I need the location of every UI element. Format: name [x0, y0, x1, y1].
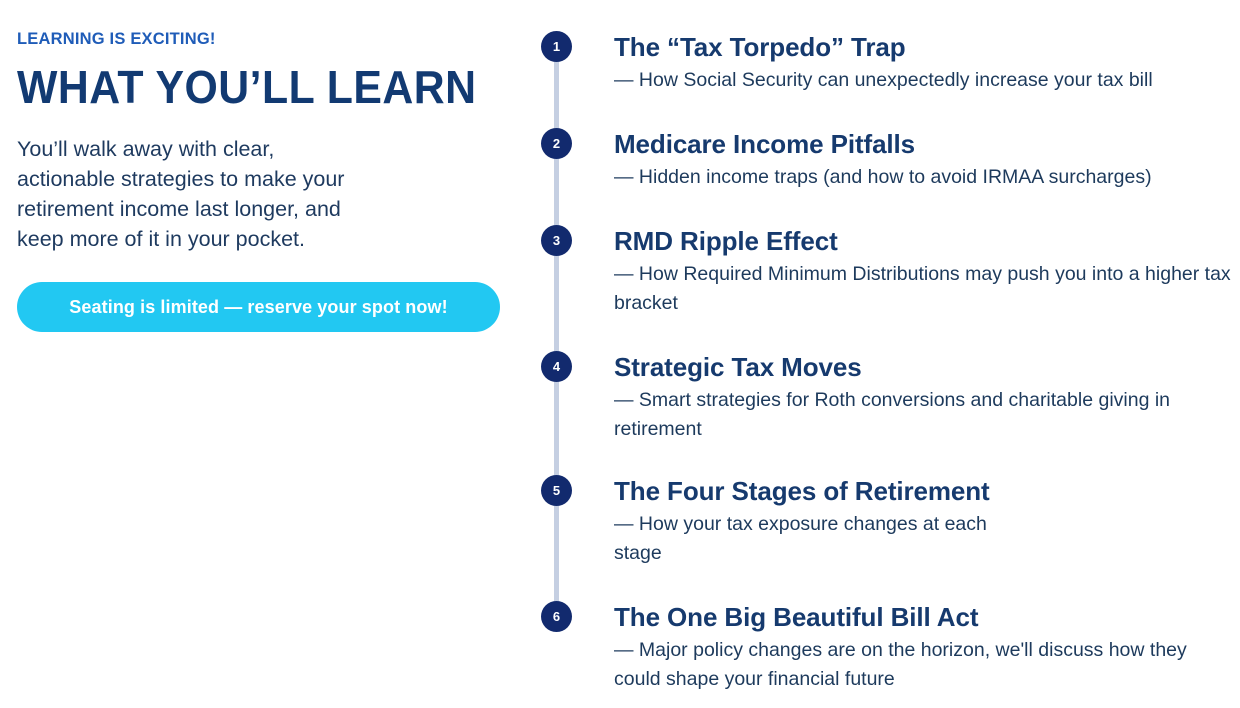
list-item-description: — How Social Security can unexpectedly i…: [614, 66, 1234, 95]
list-item-description: — How Required Minimum Distributions may…: [614, 260, 1234, 318]
list-item-title: The Four Stages of Retirement: [614, 477, 1234, 506]
list-item-title: Medicare Income Pitfalls: [614, 130, 1234, 159]
list-item-title: The One Big Beautiful Bill Act: [614, 603, 1234, 632]
step-number-badge: 1: [541, 31, 572, 62]
list-item-title: The “Tax Torpedo” Trap: [614, 33, 1234, 62]
page-title: WHAT YOU’LL LEARN: [17, 64, 473, 110]
step-number-badge: 2: [541, 128, 572, 159]
list-item-description: — Major policy changes are on the horizo…: [614, 636, 1234, 694]
intro-panel: LEARNING IS EXCITING! WHAT YOU’LL LEARN …: [17, 30, 507, 254]
list-item-description: — Hidden income traps (and how to avoid …: [614, 163, 1234, 192]
step-number-badge: 5: [541, 475, 572, 506]
curriculum-timeline: 1 The “Tax Torpedo” Trap — How Social Se…: [528, 0, 1240, 708]
reserve-spot-button[interactable]: Seating is limited — reserve your spot n…: [17, 282, 500, 332]
step-number-badge: 3: [541, 225, 572, 256]
list-item-title: Strategic Tax Moves: [614, 353, 1234, 382]
list-item-description: — How your tax exposure changes at each …: [614, 510, 1014, 568]
intro-paragraph: You’ll walk away with clear, actionable …: [17, 134, 377, 254]
step-number-badge: 4: [541, 351, 572, 382]
slide-root: LEARNING IS EXCITING! WHAT YOU’LL LEARN …: [0, 0, 1240, 708]
list-item-title: RMD Ripple Effect: [614, 227, 1234, 256]
step-number-badge: 6: [541, 601, 572, 632]
eyebrow-label: LEARNING IS EXCITING!: [17, 30, 507, 48]
list-item-description: — Smart strategies for Roth conversions …: [614, 386, 1234, 444]
